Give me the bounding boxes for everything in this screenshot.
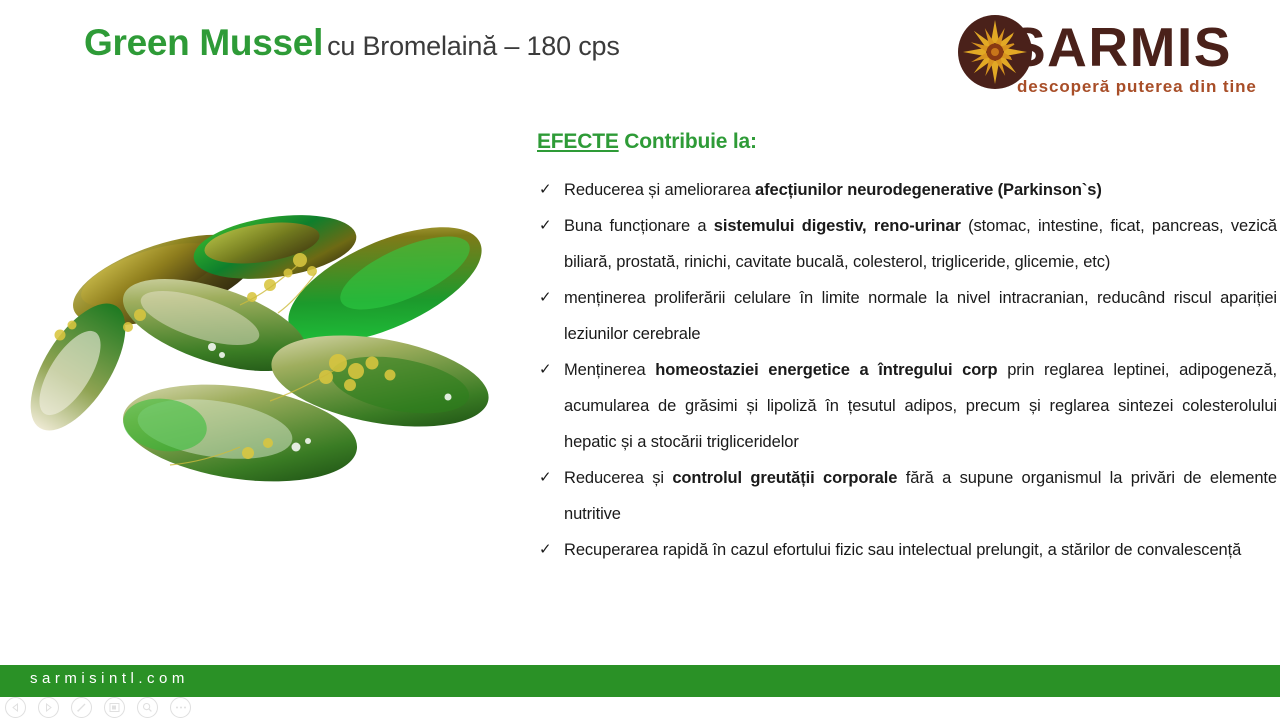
effects-heading-rest: Contribuie la:	[619, 130, 757, 153]
check-icon: ✓	[539, 352, 551, 388]
page-title: Green Musselcu Bromelaină – 180 cps	[84, 22, 620, 64]
effects-heading-underlined: EFECTE	[537, 130, 619, 153]
slide-layout-icon[interactable]	[104, 697, 125, 718]
check-icon: ✓	[539, 172, 551, 208]
logo-wordmark: SARMIS	[1009, 16, 1232, 78]
effects-text: Buna funcționare a	[564, 217, 714, 235]
zoom-icon[interactable]	[137, 697, 158, 718]
effects-text-emphasis: afecțiunilor neurodegenerative (Parkinso…	[755, 181, 1102, 199]
effects-text: Reducerea și ameliorarea	[564, 181, 755, 199]
pen-icon[interactable]	[71, 697, 92, 718]
effects-list-item: ✓Reducerea și ameliorarea afecțiunilor n…	[537, 172, 1277, 208]
effects-text-emphasis: controlul greutății corporale	[672, 469, 897, 487]
effects-list-item: ✓Buna funcționare a sistemului digestiv,…	[537, 208, 1277, 280]
effects-text: menținerea proliferării celulare în limi…	[564, 289, 1277, 343]
footer-url: sarmisintl.com	[30, 670, 189, 687]
footer-bar	[0, 665, 1280, 697]
effects-section: EFECTE Contribuie la: ✓Reducerea și amel…	[537, 130, 1277, 568]
check-icon: ✓	[539, 532, 551, 568]
check-icon: ✓	[539, 280, 551, 316]
effects-list-item: ✓menținerea proliferării celulare în lim…	[537, 280, 1277, 352]
effects-text: Reducerea și	[564, 469, 672, 487]
effects-text: Menținerea	[564, 361, 655, 379]
effects-text: Recuperarea rapidă în cazul efortului fi…	[564, 541, 1241, 559]
previous-slide-icon[interactable]	[5, 697, 26, 718]
logo-tagline: descoperă puterea din tine	[1017, 77, 1257, 97]
effects-list: ✓Reducerea și ameliorarea afecțiunilor n…	[537, 172, 1277, 568]
effects-text-emphasis: homeostaziei energetice a întregului cor…	[655, 361, 997, 379]
effects-list-item: ✓Recuperarea rapidă în cazul efortului f…	[537, 532, 1277, 568]
more-options-icon[interactable]	[170, 697, 191, 718]
next-slide-icon[interactable]	[38, 697, 59, 718]
mussel-photo	[0, 185, 520, 495]
effects-list-item: ✓Reducerea și controlul greutății corpor…	[537, 460, 1277, 532]
check-icon: ✓	[539, 460, 551, 496]
effects-heading: EFECTE Contribuie la:	[537, 130, 1277, 154]
slideshow-controls	[5, 695, 215, 719]
check-icon: ✓	[539, 208, 551, 244]
page-title-main: Green Mussel	[84, 22, 323, 63]
page-title-sub: cu Bromelaină – 180 cps	[327, 31, 620, 61]
effects-list-item: ✓Menținerea homeostaziei energetice a în…	[537, 352, 1277, 460]
brand-logo: SARMIS descoperă puterea din tine	[957, 14, 1267, 100]
slide-header: Green Musselcu Bromelaină – 180 cps	[0, 0, 1280, 110]
effects-text-emphasis: sistemului digestiv, reno-urinar	[714, 217, 961, 235]
